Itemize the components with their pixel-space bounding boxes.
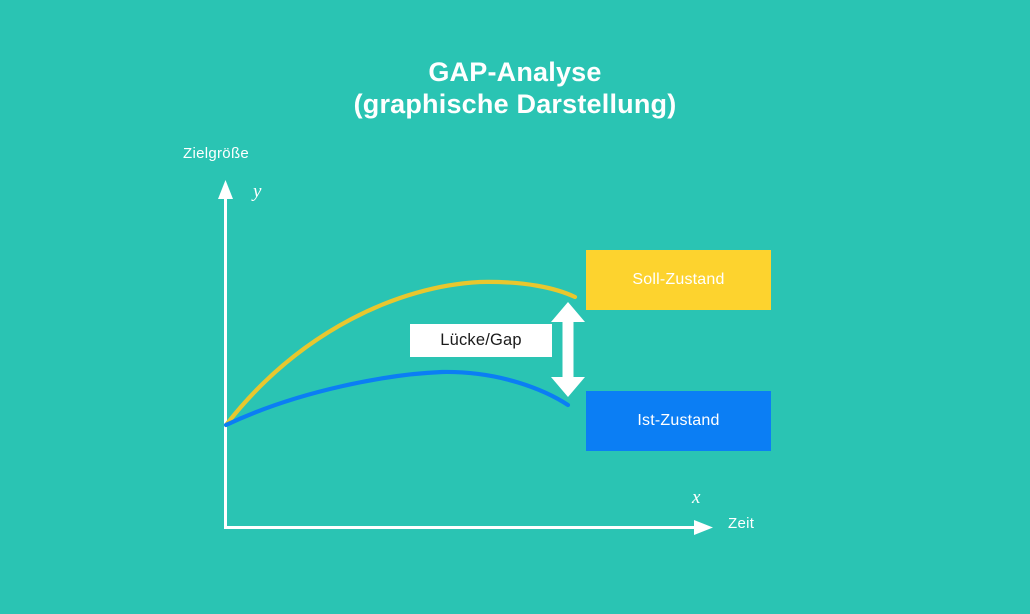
legend-ist-zustand-label: Ist-Zustand [637,412,719,430]
curve-ist-zustand [226,372,568,425]
gap-arrow-icon [551,302,585,397]
slide-canvas: GAP-Analyse (graphische Darstellung) Zie… [0,0,1030,614]
legend-soll-zustand: Soll-Zustand [586,250,771,310]
x-axis-caption: Zeit [728,515,754,532]
chart-graphics [0,0,1030,614]
gap-annotation-label: Lücke/Gap [410,324,552,357]
legend-soll-zustand-label: Soll-Zustand [632,271,724,289]
y-axis [218,180,233,528]
legend-ist-zustand: Ist-Zustand [586,391,771,451]
y-axis-variable: y [253,181,261,203]
gap-annotation-text: Lücke/Gap [440,331,522,350]
y-axis-caption: Zielgröße [183,145,249,162]
x-axis [224,520,713,535]
x-axis-variable: x [692,487,700,509]
